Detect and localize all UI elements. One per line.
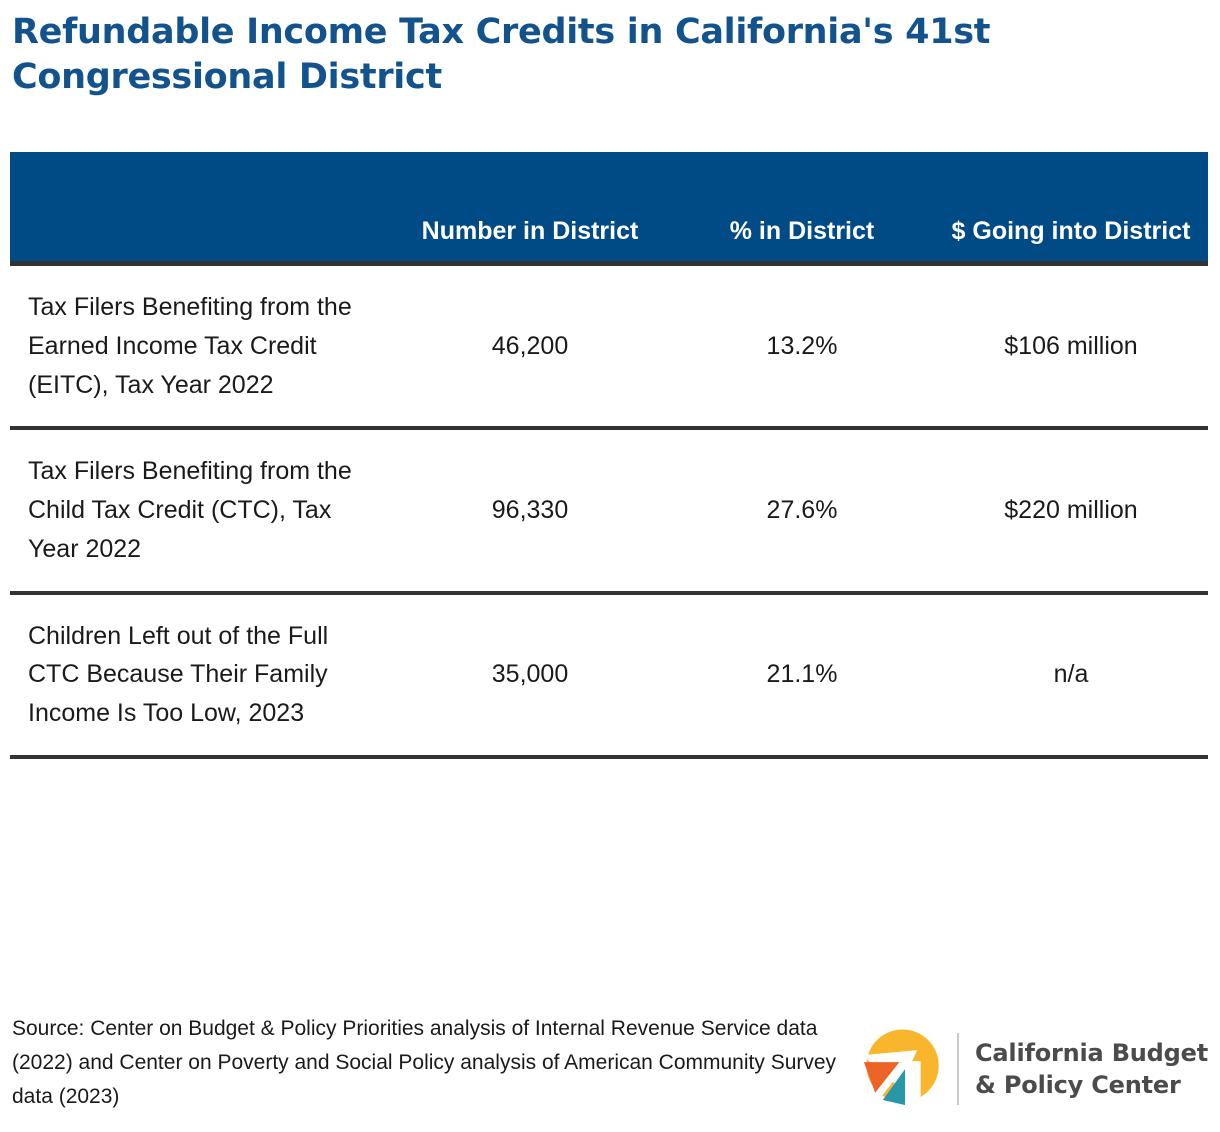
cell-percent-in-district: 21.1% — [670, 595, 934, 755]
cell-number-in-district: 96,330 — [390, 430, 670, 590]
logo-divider — [957, 1033, 959, 1105]
cell-dollars-into-district: $106 million — [934, 266, 1208, 426]
row-label: Tax Filers Benefiting from the Earned In… — [10, 266, 390, 426]
organization-logo: California Budget & Policy Center — [857, 1026, 1208, 1112]
cell-percent-in-district: 13.2% — [670, 266, 934, 426]
infographic-page: Refundable Income Tax Credits in Califor… — [0, 0, 1220, 1132]
cell-number-in-district: 35,000 — [390, 595, 670, 755]
column-header-number-in-district: Number in District — [390, 152, 670, 261]
column-header-dollars-into-district: $ Going into District — [934, 152, 1208, 261]
cell-percent-in-district: 27.6% — [670, 430, 934, 590]
data-table: Number in District % in District $ Going… — [10, 152, 1208, 759]
cell-dollars-into-district: n/a — [934, 595, 1208, 755]
row-label: Tax Filers Benefiting from the Child Tax… — [10, 430, 390, 590]
logo-wordmark: California Budget & Policy Center — [975, 1037, 1208, 1101]
column-header-label — [10, 152, 390, 261]
footer: Source: Center on Budget & Policy Priori… — [12, 1012, 1208, 1114]
row-label: Children Left out of the Full CTC Becaus… — [10, 595, 390, 755]
table-header-row: Number in District % in District $ Going… — [10, 152, 1208, 266]
cell-number-in-district: 46,200 — [390, 266, 670, 426]
pie-chart-arrow-logo-icon — [857, 1026, 943, 1112]
source-note: Source: Center on Budget & Policy Priori… — [12, 1012, 842, 1114]
cell-dollars-into-district: $220 million — [934, 430, 1208, 590]
page-title: Refundable Income Tax Credits in Califor… — [12, 10, 1162, 100]
table-row: Tax Filers Benefiting from the Earned In… — [10, 266, 1208, 430]
column-header-percent-in-district: % in District — [670, 152, 934, 261]
table-row: Children Left out of the Full CTC Becaus… — [10, 595, 1208, 759]
table-row: Tax Filers Benefiting from the Child Tax… — [10, 430, 1208, 594]
